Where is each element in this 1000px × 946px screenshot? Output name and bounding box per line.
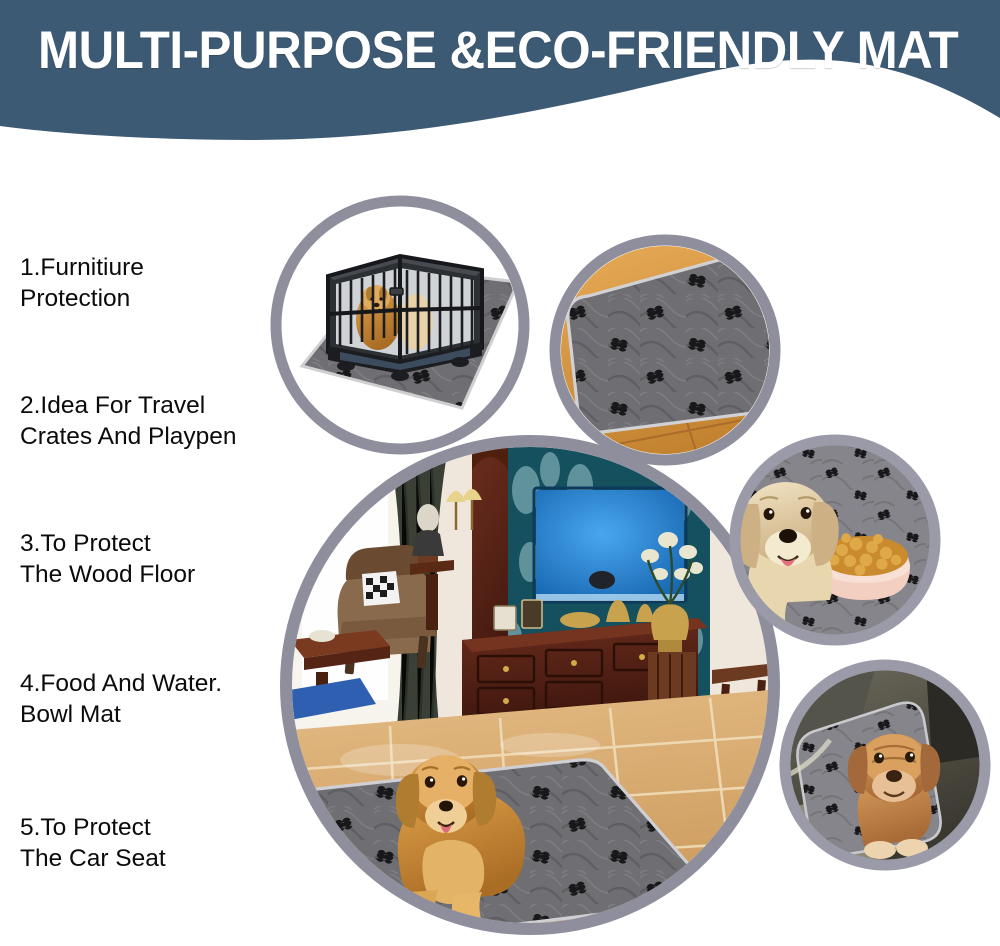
infographic-page: MULTI-PURPOSE &ECO-FRIENDLY MAT 1.Furnit… xyxy=(0,0,1000,946)
collage-svg xyxy=(250,170,1000,946)
dog-crate xyxy=(328,256,482,381)
food-bowl-photo-circle xyxy=(733,440,936,642)
crate-photo-circle xyxy=(276,201,524,449)
wood-floor-photo-circle xyxy=(555,240,796,470)
page-title: MULTI-PURPOSE &ECO-FRIENDLY MAT xyxy=(38,22,912,80)
car-seat-photo-circle xyxy=(785,665,986,866)
living-room-photo-circle xyxy=(286,441,774,942)
header-banner: MULTI-PURPOSE &ECO-FRIENDLY MAT xyxy=(0,0,1000,140)
photo-collage xyxy=(250,170,1000,946)
